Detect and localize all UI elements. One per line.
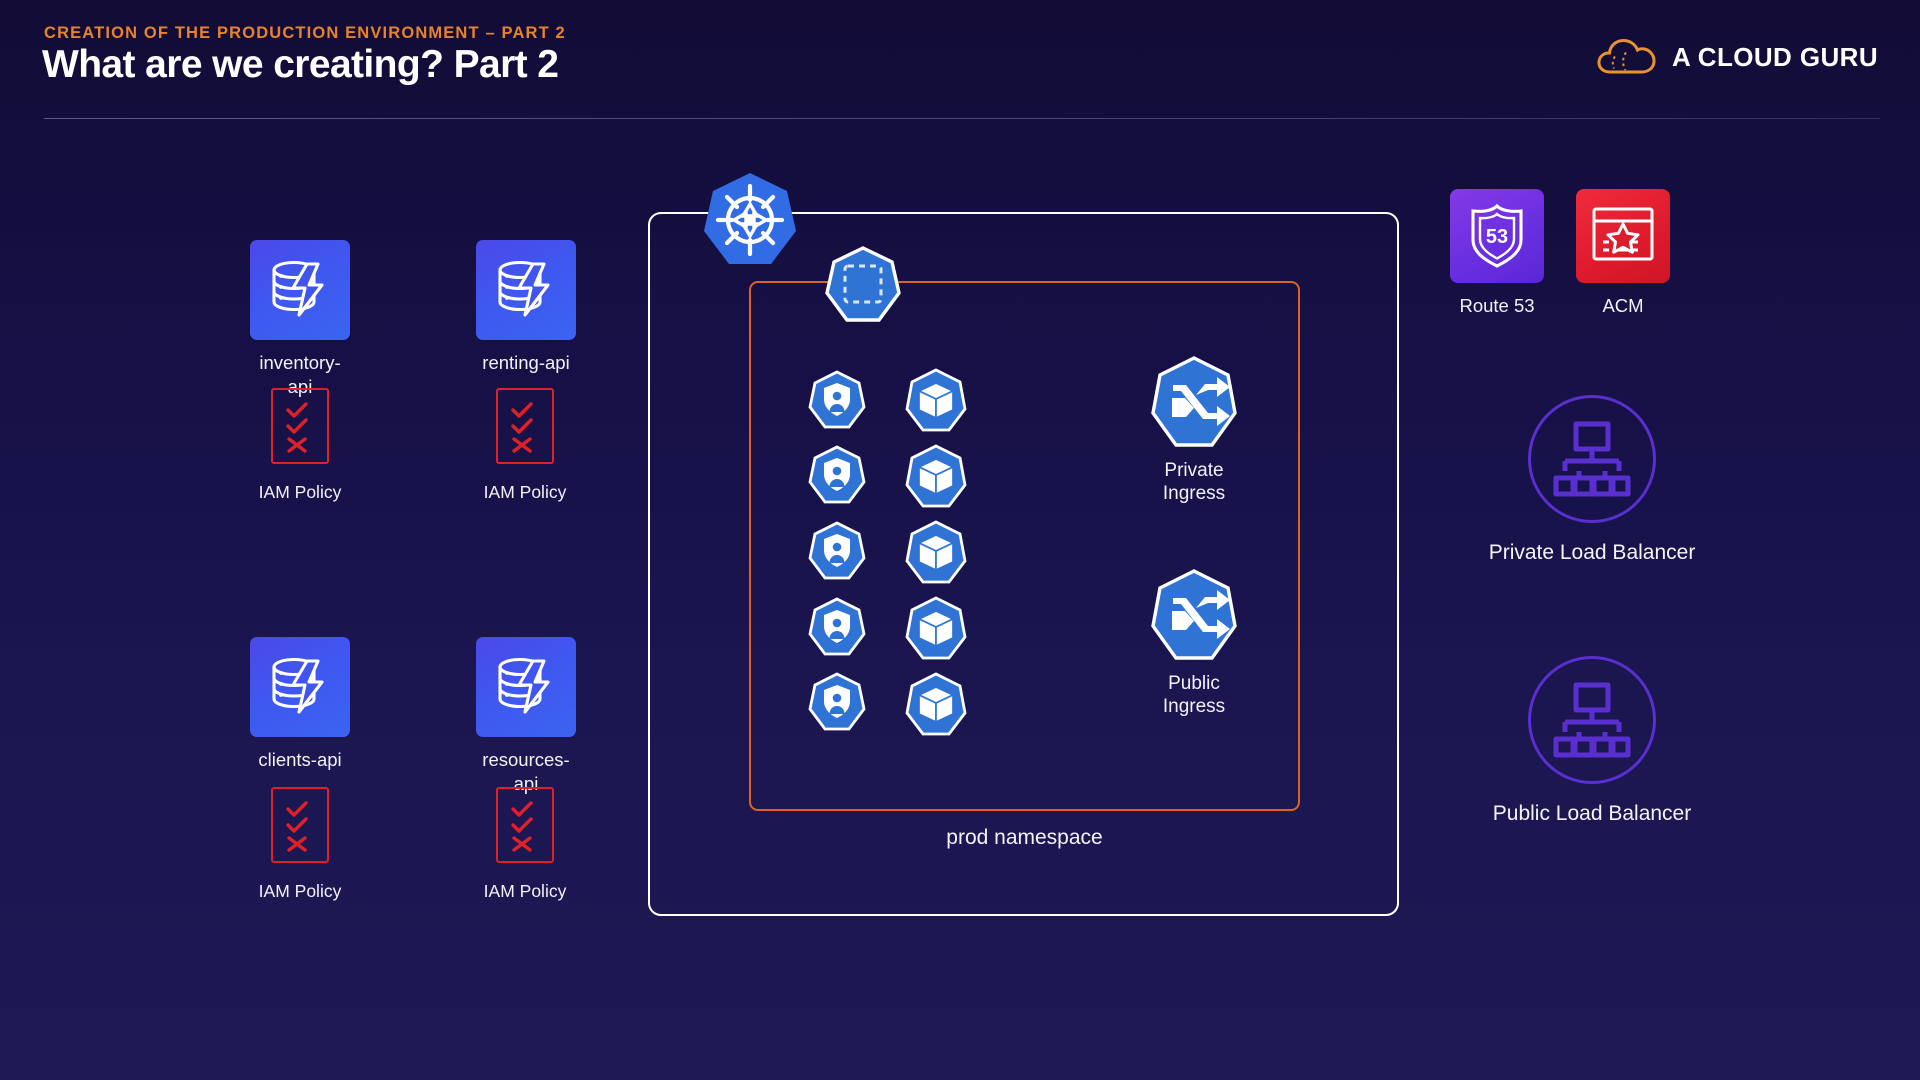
slide-canvas: CREATION OF THE PRODUCTION ENVIRONMENT –… (0, 0, 1920, 1080)
ingress-label: Private Ingress (1163, 459, 1225, 505)
pod-1[interactable] (903, 368, 969, 434)
ingress-icon (1146, 355, 1242, 451)
service-account-4[interactable] (807, 597, 867, 657)
pod-3[interactable] (903, 520, 969, 586)
node-iam-policy-clients[interactable] (270, 787, 330, 863)
dynamodb-icon (476, 240, 576, 340)
acm-icon (1576, 189, 1670, 283)
ingress-label: Public Ingress (1163, 672, 1225, 718)
node-resources-api[interactable]: resources-api (474, 637, 578, 795)
route53-icon: 53 (1450, 189, 1544, 283)
service-account-3[interactable] (807, 521, 867, 581)
service-account-5[interactable] (807, 672, 867, 732)
node-label: Private Load Balancer (1489, 541, 1696, 565)
dynamodb-icon (250, 240, 350, 340)
node-public-load-balancer[interactable]: Public Load Balancer (1528, 656, 1656, 826)
iam-policy-label-renting: IAM Policy (445, 482, 605, 503)
iam-policy-icon (271, 388, 329, 464)
brand-logo: A CLOUD GURU (1596, 36, 1878, 78)
ingress-icon (1146, 568, 1242, 664)
pod-4[interactable] (903, 596, 969, 662)
iam-policy-icon (496, 388, 554, 464)
node-label: renting-api (482, 351, 569, 375)
eyebrow-text: CREATION OF THE PRODUCTION ENVIRONMENT –… (44, 24, 566, 43)
iam-policy-icon (496, 787, 554, 863)
node-iam-policy-inventory[interactable] (270, 388, 330, 464)
brand-name: A CLOUD GURU (1672, 42, 1878, 73)
node-renting-api[interactable]: renting-api (474, 240, 578, 375)
iam-policy-label-inventory: IAM Policy (220, 482, 380, 503)
node-label: ACM (1602, 294, 1643, 318)
pod-5[interactable] (903, 672, 969, 738)
node-clients-api[interactable]: clients-api (248, 637, 352, 772)
public-ingress[interactable]: Public Ingress (1146, 568, 1242, 718)
iam-policy-label-resources: IAM Policy (445, 881, 605, 902)
service-account-2[interactable] (807, 445, 867, 505)
node-label: clients-api (258, 748, 341, 772)
node-iam-policy-resources[interactable] (495, 787, 555, 863)
node-label: Public Load Balancer (1493, 802, 1691, 826)
node-acm[interactable]: ACM (1575, 189, 1671, 318)
namespace-label: prod namespace (749, 826, 1300, 850)
node-iam-policy-renting[interactable] (495, 388, 555, 464)
cloud-icon (1596, 36, 1658, 78)
kubernetes-icon (700, 170, 800, 270)
private-ingress[interactable]: Private Ingress (1146, 355, 1242, 505)
iam-policy-icon (271, 787, 329, 863)
dynamodb-icon (250, 637, 350, 737)
header-divider (44, 118, 1880, 119)
load-balancer-icon (1528, 656, 1656, 784)
node-private-load-balancer[interactable]: Private Load Balancer (1528, 395, 1656, 565)
node-label: Route 53 (1459, 294, 1534, 318)
node-route53[interactable]: 53 Route 53 (1449, 189, 1545, 318)
namespace-icon (824, 245, 902, 323)
node-inventory-api[interactable]: inventory-api (248, 240, 352, 398)
pod-2[interactable] (903, 444, 969, 510)
svg-text:53: 53 (1486, 226, 1508, 248)
service-account-1[interactable] (807, 370, 867, 430)
page-title: What are we creating? Part 2 (42, 43, 558, 87)
load-balancer-icon (1528, 395, 1656, 523)
dynamodb-icon (476, 637, 576, 737)
iam-policy-label-clients: IAM Policy (220, 881, 380, 902)
